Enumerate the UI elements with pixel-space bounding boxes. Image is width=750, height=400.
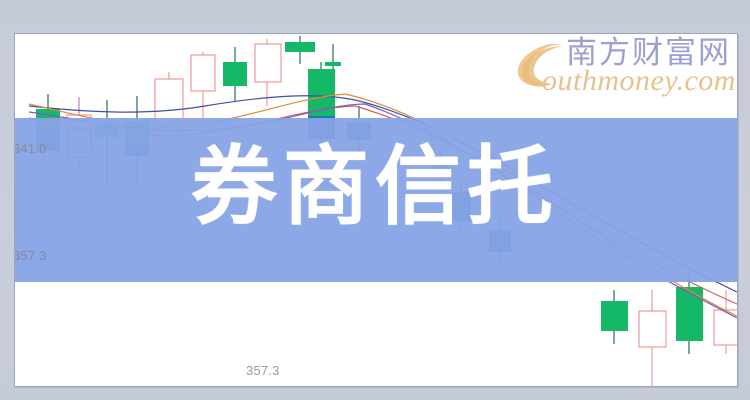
price-label-upper: 341.0	[14, 141, 47, 156]
candle	[223, 47, 247, 102]
price-label-lower: 357.3	[14, 248, 47, 263]
stock-chart-panel[interactable]: 341.0 357.3 357.3	[14, 33, 738, 387]
screenshot-stage: 341.0 357.3 357.3 券商信托 南方财富网 outhmoney.c…	[0, 0, 750, 400]
candle	[191, 52, 215, 120]
candle	[255, 39, 281, 106]
candle	[714, 290, 737, 354]
candle	[285, 36, 315, 64]
candle	[639, 290, 666, 386]
candle	[601, 290, 628, 344]
blue-overlay-band	[15, 118, 737, 282]
price-label-bottom: 357.3	[246, 363, 280, 378]
